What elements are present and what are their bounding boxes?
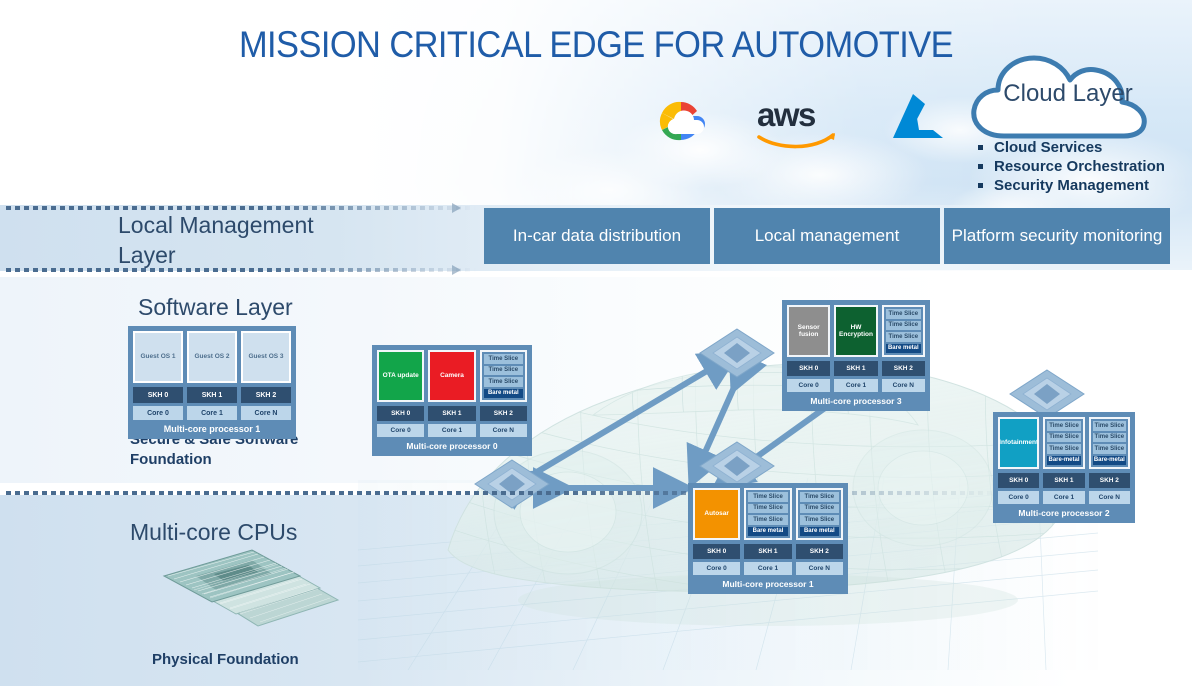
core-cell: Core 1 bbox=[744, 559, 791, 575]
core-box: Core N bbox=[796, 562, 843, 575]
cloud-layer-label: Cloud Layer bbox=[966, 80, 1170, 108]
list-item: Resource Orchestration bbox=[978, 157, 1192, 176]
skh-box: SKH 2 bbox=[796, 544, 843, 559]
time-slice: Time Slice bbox=[1047, 444, 1080, 454]
skh-cell: SKH 0 bbox=[133, 383, 183, 403]
multicore-cpus-title: Multi-core CPUs bbox=[130, 519, 297, 546]
skh-cell: SKH 2 bbox=[796, 540, 843, 559]
processor-card-1[interactable]: Autosar Time Slice Time Slice Time Slice… bbox=[688, 483, 848, 594]
processor-name-label: Multi-core processor 3 bbox=[787, 396, 925, 406]
skh-cell: SKH 1 bbox=[187, 383, 237, 403]
app-cell: Camera bbox=[428, 350, 475, 402]
time-slice: Time Slice bbox=[484, 377, 523, 387]
skh-cell: SKH 0 bbox=[693, 540, 740, 559]
core-cell: Core N bbox=[480, 421, 527, 437]
bare-metal-slice: Bare-metal bbox=[1047, 456, 1080, 466]
time-slice: Time Slice bbox=[484, 366, 523, 376]
core-row: Core 0 Core 1 Core N bbox=[787, 376, 925, 392]
skh-box: SKH 1 bbox=[187, 387, 237, 403]
app-row: OTA update Camera Time Slice Time Slice … bbox=[377, 350, 527, 402]
local-management-layer-title: Local Management Layer bbox=[118, 210, 358, 271]
skh-cell: SKH 1 bbox=[744, 540, 791, 559]
chip-node-top bbox=[698, 327, 776, 379]
skh-box: SKH 0 bbox=[693, 544, 740, 559]
time-slice: Time Slice bbox=[886, 332, 921, 342]
app-box-guest-os-1: Guest OS 1 bbox=[133, 331, 183, 383]
skh-box: SKH 1 bbox=[1043, 473, 1084, 488]
app-box-infotainment: Infotainment bbox=[998, 417, 1039, 469]
time-slice: Time Slice bbox=[1093, 433, 1126, 443]
time-slice: Time Slice bbox=[748, 504, 787, 514]
app-cell: OTA update bbox=[377, 350, 424, 402]
core-box: Core 1 bbox=[428, 424, 475, 437]
skh-row: SKH 0 SKH 1 SKH 2 bbox=[998, 469, 1130, 488]
core-box: Core 0 bbox=[787, 379, 830, 392]
stacked-cpu-chips-icon bbox=[148, 548, 348, 648]
bare-metal-slice: Bare metal bbox=[886, 344, 921, 354]
app-box-autosar: Autosar bbox=[693, 488, 740, 540]
physical-foundation-caption: Physical Foundation bbox=[152, 650, 299, 670]
processor-card-3[interactable]: Sensor fusion HW Encryption Time Slice T… bbox=[782, 300, 930, 411]
processor-card-2[interactable]: Infotainment Time Slice Time Slice Time … bbox=[993, 412, 1135, 523]
azure-logo bbox=[885, 92, 947, 148]
core-box: Core 0 bbox=[377, 424, 424, 437]
core-cell: Core 0 bbox=[133, 403, 183, 420]
time-slice: Time Slice bbox=[748, 492, 787, 502]
skh-cell: SKH 0 bbox=[787, 357, 830, 376]
skh-box: SKH 2 bbox=[1089, 473, 1130, 488]
app-box-guest-os-2: Guest OS 2 bbox=[187, 331, 237, 383]
app-cell: Sensor fusion bbox=[787, 305, 830, 357]
bare-metal-slice: Bare metal bbox=[800, 527, 839, 537]
capability-box-in-car-data-distribution[interactable]: In-car data distribution bbox=[484, 208, 710, 264]
app-row: Infotainment Time Slice Time Slice Time … bbox=[998, 417, 1130, 469]
core-cell: Core 1 bbox=[428, 421, 475, 437]
capability-box-platform-security-monitoring[interactable]: Platform security monitoring bbox=[944, 208, 1170, 264]
skh-row: SKH 0 SKH 1 SKH 2 bbox=[133, 383, 291, 403]
divider-middle-arrow-icon bbox=[452, 265, 461, 275]
divider-top-arrow-icon bbox=[452, 203, 461, 213]
time-slice: Time Slice bbox=[1093, 444, 1126, 454]
aws-smile-icon bbox=[757, 131, 837, 149]
core-cell: Core 1 bbox=[1043, 488, 1084, 504]
core-box: Core N bbox=[882, 379, 925, 392]
core-box: Core 0 bbox=[998, 491, 1039, 504]
core-row: Core 0 Core 1 Core N bbox=[693, 559, 843, 575]
skh-cell: SKH 0 bbox=[377, 402, 424, 421]
app-cell: Time Slice Time Slice Time Slice Bare me… bbox=[480, 350, 527, 402]
aws-logo: aws bbox=[757, 98, 837, 146]
time-slice-stack: Time Slice Time Slice Time Slice Bare me… bbox=[744, 488, 791, 540]
core-cell: Core 0 bbox=[787, 376, 830, 392]
processor-card-software-layer[interactable]: Guest OS 1 Guest OS 2 Guest OS 3 SKH 0 S… bbox=[128, 326, 296, 439]
core-cell: Core N bbox=[1089, 488, 1130, 504]
divider-bottom bbox=[6, 491, 1006, 495]
skh-row: SKH 0 SKH 1 SKH 2 bbox=[693, 540, 843, 559]
skh-cell: SKH 2 bbox=[882, 357, 925, 376]
skh-box: SKH 2 bbox=[241, 387, 291, 403]
core-cell: Core 1 bbox=[834, 376, 877, 392]
time-slice: Time Slice bbox=[886, 309, 921, 319]
skh-box: SKH 1 bbox=[428, 406, 475, 421]
skh-cell: SKH 1 bbox=[428, 402, 475, 421]
core-cell: Core N bbox=[241, 403, 291, 420]
app-cell: Time Slice Time Slice Time Slice Bare me… bbox=[744, 488, 791, 540]
google-cloud-logo bbox=[650, 95, 712, 147]
core-box: Core 1 bbox=[187, 406, 237, 420]
skh-cell: SKH 2 bbox=[480, 402, 527, 421]
processor-name-label: Multi-core processor 2 bbox=[998, 508, 1130, 518]
bare-metal-slice: Bare-metal bbox=[1093, 456, 1126, 466]
time-slice-stack: Time Slice Time Slice Time Slice Bare me… bbox=[882, 305, 925, 357]
core-row: Core 0 Core 1 Core N bbox=[998, 488, 1130, 504]
skh-cell: SKH 1 bbox=[1043, 469, 1084, 488]
app-box-guest-os-3: Guest OS 3 bbox=[241, 331, 291, 383]
core-cell: Core 0 bbox=[998, 488, 1039, 504]
core-box: Core 1 bbox=[834, 379, 877, 392]
time-slice: Time Slice bbox=[886, 321, 921, 331]
list-item: Cloud Services bbox=[978, 138, 1192, 157]
core-box: Core N bbox=[1089, 491, 1130, 504]
skh-cell: SKH 1 bbox=[834, 357, 877, 376]
core-cell: Core N bbox=[796, 559, 843, 575]
processor-name-label: Multi-core processor 1 bbox=[133, 424, 291, 434]
bare-metal-slice: Bare metal bbox=[484, 389, 523, 399]
skh-box: SKH 1 bbox=[744, 544, 791, 559]
skh-cell: SKH 2 bbox=[241, 383, 291, 403]
skh-row: SKH 0 SKH 1 SKH 2 bbox=[787, 357, 925, 376]
time-slice: Time Slice bbox=[800, 504, 839, 514]
core-row: Core 0 Core 1 Core N bbox=[377, 421, 527, 437]
time-slice: Time Slice bbox=[748, 515, 787, 525]
skh-box: SKH 0 bbox=[133, 387, 183, 403]
time-slice-stack: Time Slice Time Slice Time Slice Bare me… bbox=[796, 488, 843, 540]
app-cell: Time Slice Time Slice Time Slice Bare-me… bbox=[1043, 417, 1084, 469]
app-box-hw-encryption: HW Encryption bbox=[834, 305, 877, 357]
skh-box: SKH 0 bbox=[998, 473, 1039, 488]
capability-box-local-management[interactable]: Local management bbox=[714, 208, 940, 264]
time-slice: Time Slice bbox=[800, 492, 839, 502]
app-cell: HW Encryption bbox=[834, 305, 877, 357]
time-slice: Time Slice bbox=[1047, 421, 1080, 431]
core-box: Core N bbox=[480, 424, 527, 437]
core-box: Core 1 bbox=[1043, 491, 1084, 504]
app-row: Guest OS 1 Guest OS 2 Guest OS 3 bbox=[133, 331, 291, 383]
core-box: Core N bbox=[241, 406, 291, 420]
time-slice: Time Slice bbox=[1093, 421, 1126, 431]
list-item: Security Management bbox=[978, 176, 1192, 195]
time-slice: Time Slice bbox=[484, 354, 523, 364]
aws-wordmark: aws bbox=[757, 98, 837, 131]
skh-box: SKH 0 bbox=[377, 406, 424, 421]
core-row: Core 0 Core 1 Core N bbox=[133, 403, 291, 420]
processor-card-0[interactable]: OTA update Camera Time Slice Time Slice … bbox=[372, 345, 532, 456]
time-slice: Time Slice bbox=[1047, 433, 1080, 443]
chip-node-front-left bbox=[473, 458, 551, 510]
skh-cell: SKH 0 bbox=[998, 469, 1039, 488]
app-row: Sensor fusion HW Encryption Time Slice T… bbox=[787, 305, 925, 357]
skh-row: SKH 0 SKH 1 SKH 2 bbox=[377, 402, 527, 421]
app-cell: Guest OS 1 bbox=[133, 331, 183, 383]
app-box-ota-update: OTA update bbox=[377, 350, 424, 402]
core-cell: Core 0 bbox=[693, 559, 740, 575]
app-row: Autosar Time Slice Time Slice Time Slice… bbox=[693, 488, 843, 540]
skh-box: SKH 2 bbox=[882, 361, 925, 376]
time-slice-stack: Time Slice Time Slice Time Slice Bare me… bbox=[480, 350, 527, 402]
app-cell: Time Slice Time Slice Time Slice Bare-me… bbox=[1089, 417, 1130, 469]
time-slice-stack: Time Slice Time Slice Time Slice Bare-me… bbox=[1043, 417, 1084, 469]
time-slice: Time Slice bbox=[800, 515, 839, 525]
processor-name-label: Multi-core processor 0 bbox=[377, 441, 527, 451]
app-cell: Infotainment bbox=[998, 417, 1039, 469]
slide-canvas: MISSION CRITICAL EDGE FOR AUTOMOTIVE aws… bbox=[0, 0, 1192, 686]
core-cell: Core 0 bbox=[377, 421, 424, 437]
processor-name-label: Multi-core processor 1 bbox=[693, 579, 843, 589]
core-cell: Core N bbox=[882, 376, 925, 392]
time-slice-stack: Time Slice Time Slice Time Slice Bare-me… bbox=[1089, 417, 1130, 469]
app-cell: Autosar bbox=[693, 488, 740, 540]
app-cell: Guest OS 2 bbox=[187, 331, 237, 383]
app-box-camera: Camera bbox=[428, 350, 475, 402]
core-cell: Core 1 bbox=[187, 403, 237, 420]
app-cell: Time Slice Time Slice Time Slice Bare me… bbox=[882, 305, 925, 357]
app-cell: Guest OS 3 bbox=[241, 331, 291, 383]
skh-box: SKH 1 bbox=[834, 361, 877, 376]
skh-box: SKH 0 bbox=[787, 361, 830, 376]
cloud-capabilities-list: Cloud Services Resource Orchestration Se… bbox=[978, 138, 1192, 196]
software-layer-title: Software Layer bbox=[138, 294, 293, 321]
app-box-sensor-fusion: Sensor fusion bbox=[787, 305, 830, 357]
core-box: Core 1 bbox=[744, 562, 791, 575]
core-box: Core 0 bbox=[133, 406, 183, 420]
app-cell: Time Slice Time Slice Time Slice Bare me… bbox=[796, 488, 843, 540]
skh-cell: SKH 2 bbox=[1089, 469, 1130, 488]
bare-metal-slice: Bare metal bbox=[748, 527, 787, 537]
core-box: Core 0 bbox=[693, 562, 740, 575]
skh-box: SKH 2 bbox=[480, 406, 527, 421]
